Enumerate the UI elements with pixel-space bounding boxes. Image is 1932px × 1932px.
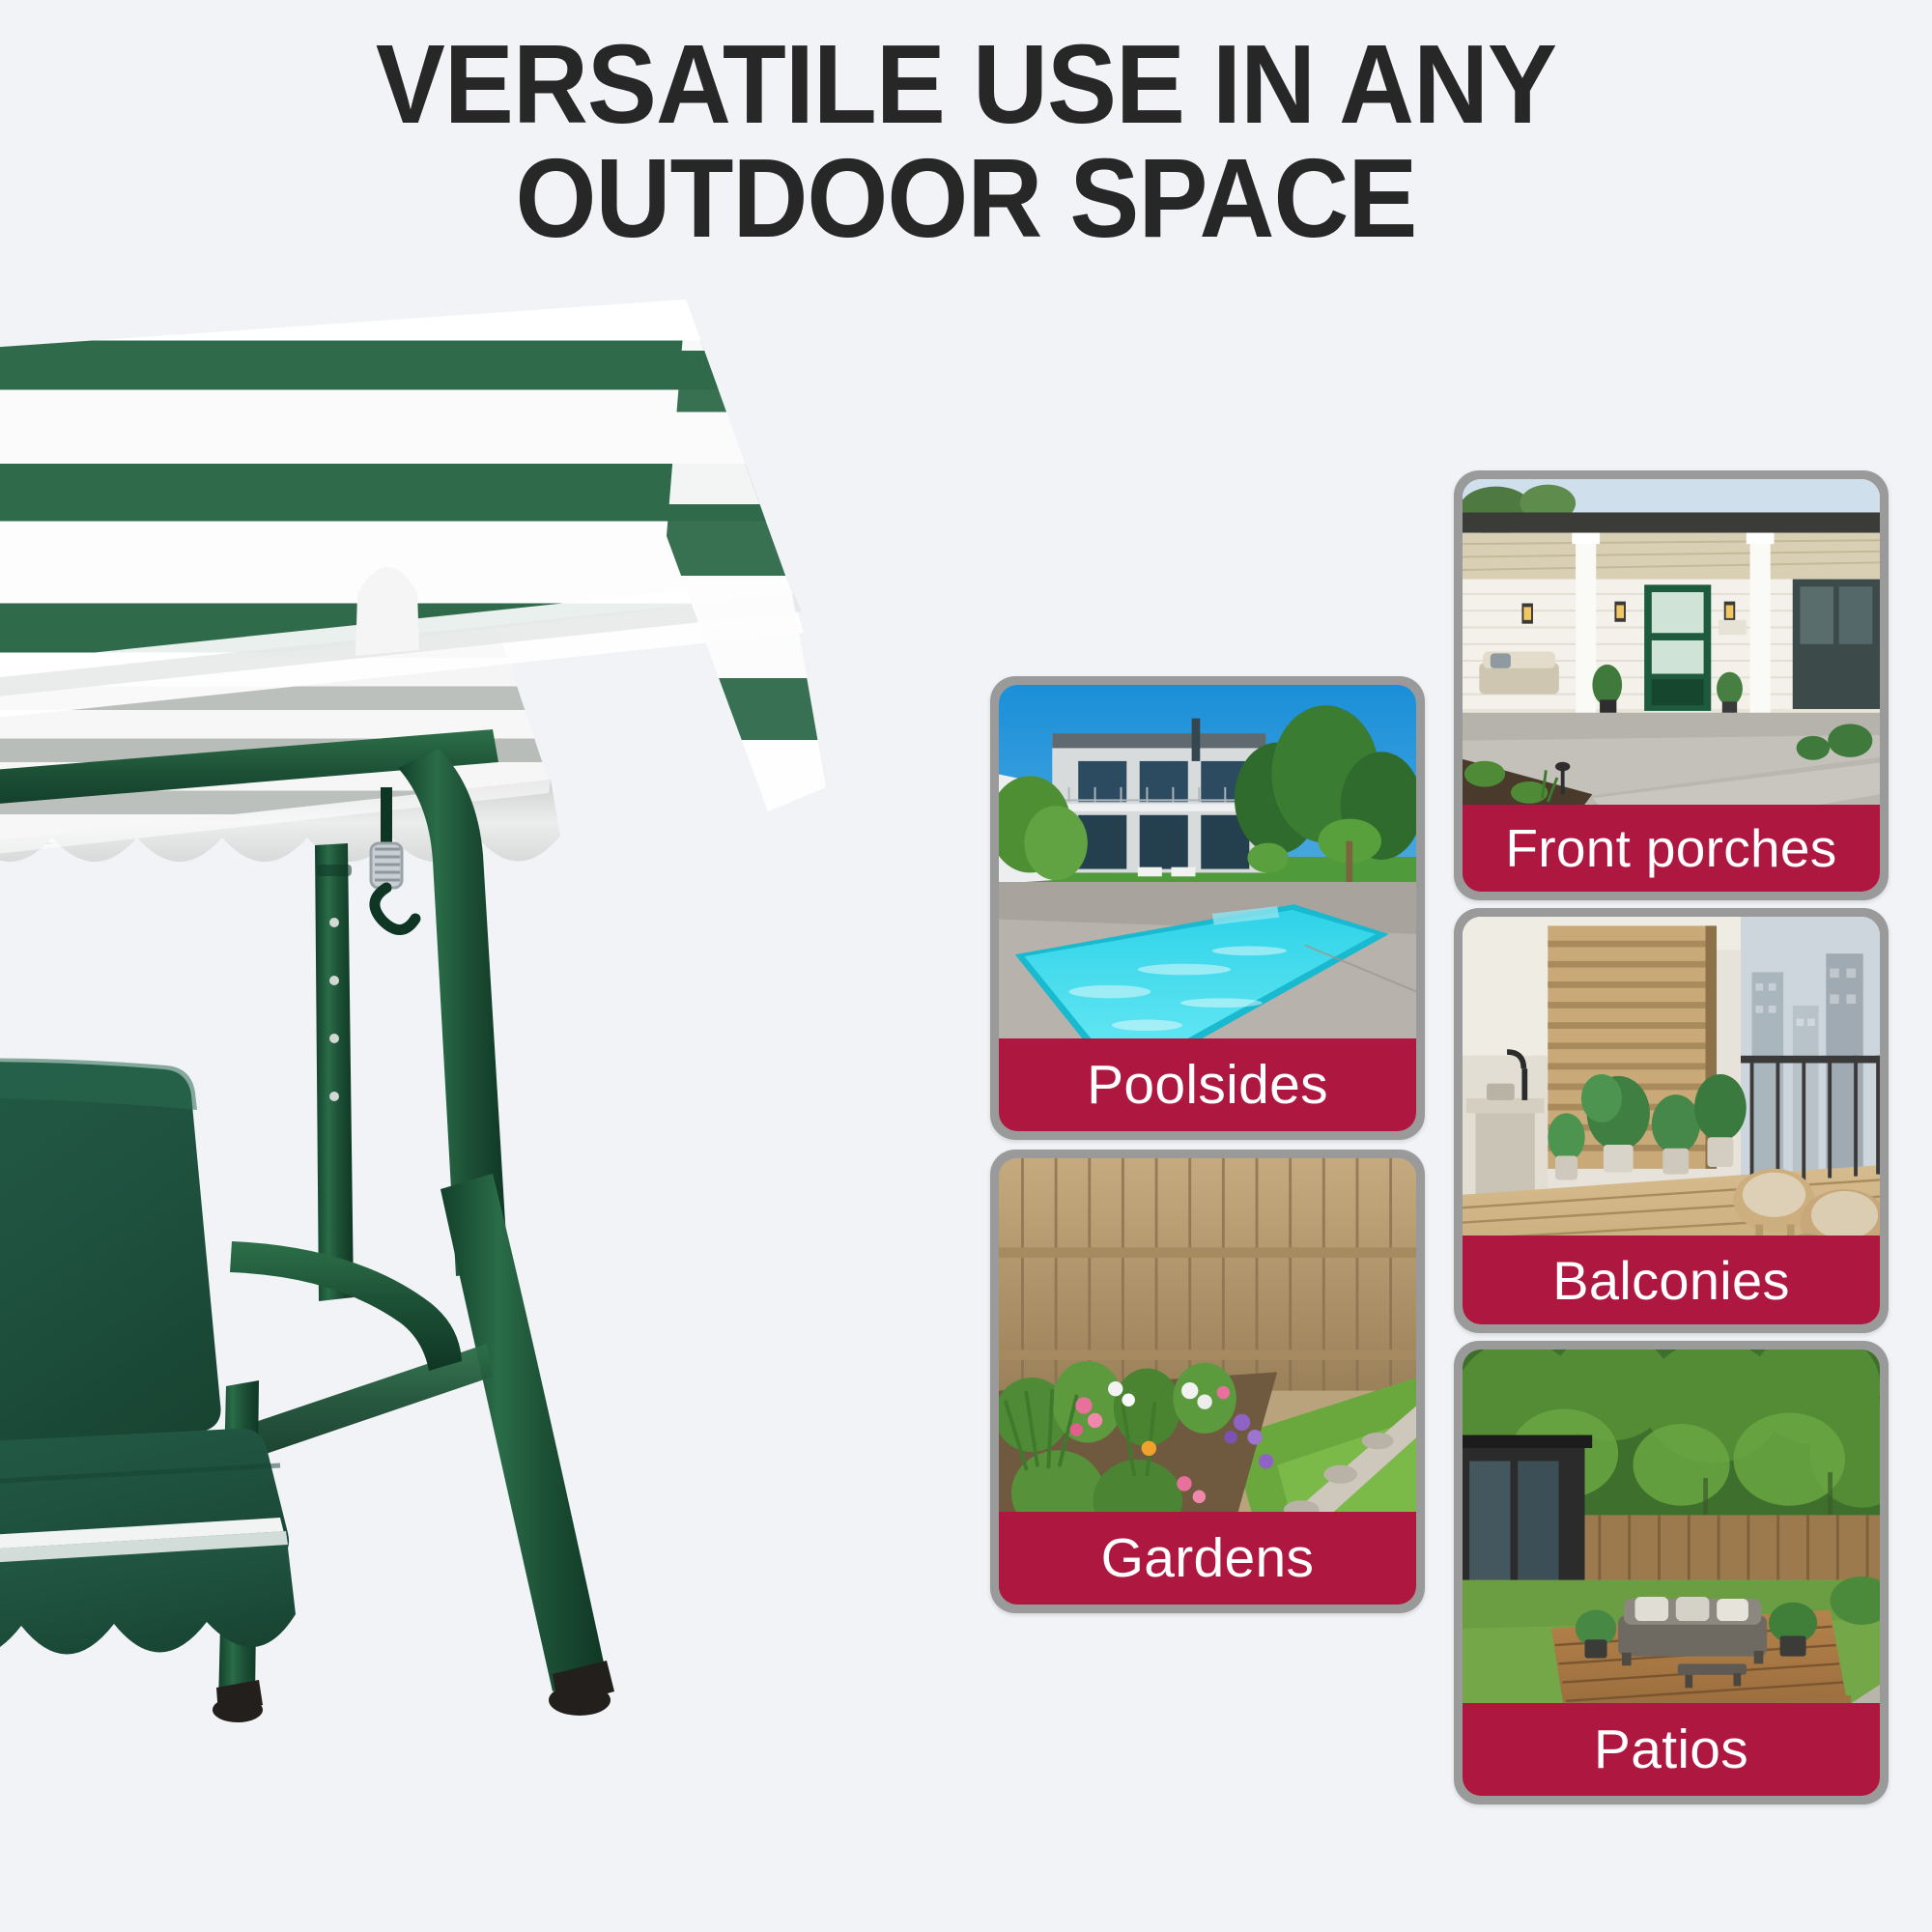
card-label-patios: Patios <box>1463 1703 1880 1796</box>
card-label-poolsides: Poolsides <box>999 1038 1416 1131</box>
use-case-card-front-porches[interactable]: Front porches <box>1454 470 1889 900</box>
use-case-card-balconies[interactable]: Balconies <box>1454 908 1889 1333</box>
use-case-card-grid: Poolsides <box>0 0 1932 1932</box>
use-case-card-poolsides[interactable]: Poolsides <box>990 676 1425 1140</box>
card-label-front-porches: Front porches <box>1463 805 1880 892</box>
card-label-balconies: Balconies <box>1463 1236 1880 1324</box>
use-case-card-gardens[interactable]: Gardens <box>990 1150 1425 1613</box>
use-case-card-patios[interactable]: Patios <box>1454 1341 1889 1804</box>
card-label-gardens: Gardens <box>999 1512 1416 1605</box>
